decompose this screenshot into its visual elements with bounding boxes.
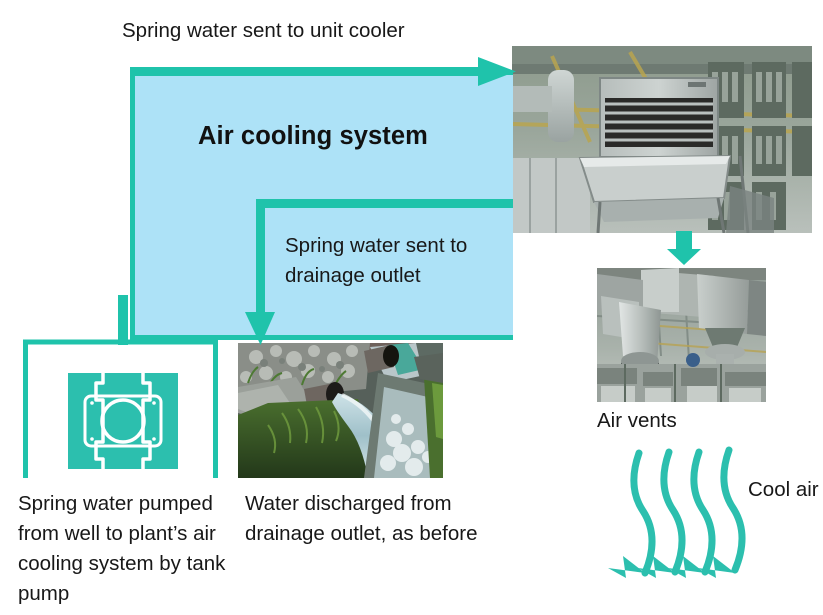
label-spring-water-to-unit-cooler: Spring water sent to unit cooler — [122, 18, 405, 44]
label-drainage-line2: drainage outlet — [285, 261, 467, 291]
unit-cooler-photo — [512, 46, 812, 233]
caption-water-discharged: Water discharged from drainage outlet, a… — [245, 489, 480, 549]
diagram-canvas: Spring water sent to unit cooler Spring … — [0, 0, 823, 615]
pump-riser — [118, 295, 128, 345]
label-cool-air: Cool air — [748, 477, 819, 503]
pump-piping — [26, 342, 216, 478]
drainage-outlet-photo — [238, 343, 443, 478]
arrow-down-icon — [667, 231, 701, 265]
label-drainage-line1: Spring water sent to — [285, 231, 467, 261]
caption-spring-water-pump: Spring water pumped from well to plant’s… — [18, 489, 243, 609]
wavy-airflow-arrowheads — [608, 556, 735, 578]
air-cooling-system-panel — [130, 70, 513, 340]
label-air-vents: Air vents — [597, 408, 677, 434]
wavy-airflow-arrow-icon — [634, 450, 742, 573]
page-title: Air cooling system — [198, 123, 428, 149]
tank-pump-icon — [68, 373, 178, 469]
air-vents-photo — [597, 268, 766, 402]
label-spring-water-to-drainage-outlet: Spring water sent to drainage outlet — [285, 231, 467, 291]
